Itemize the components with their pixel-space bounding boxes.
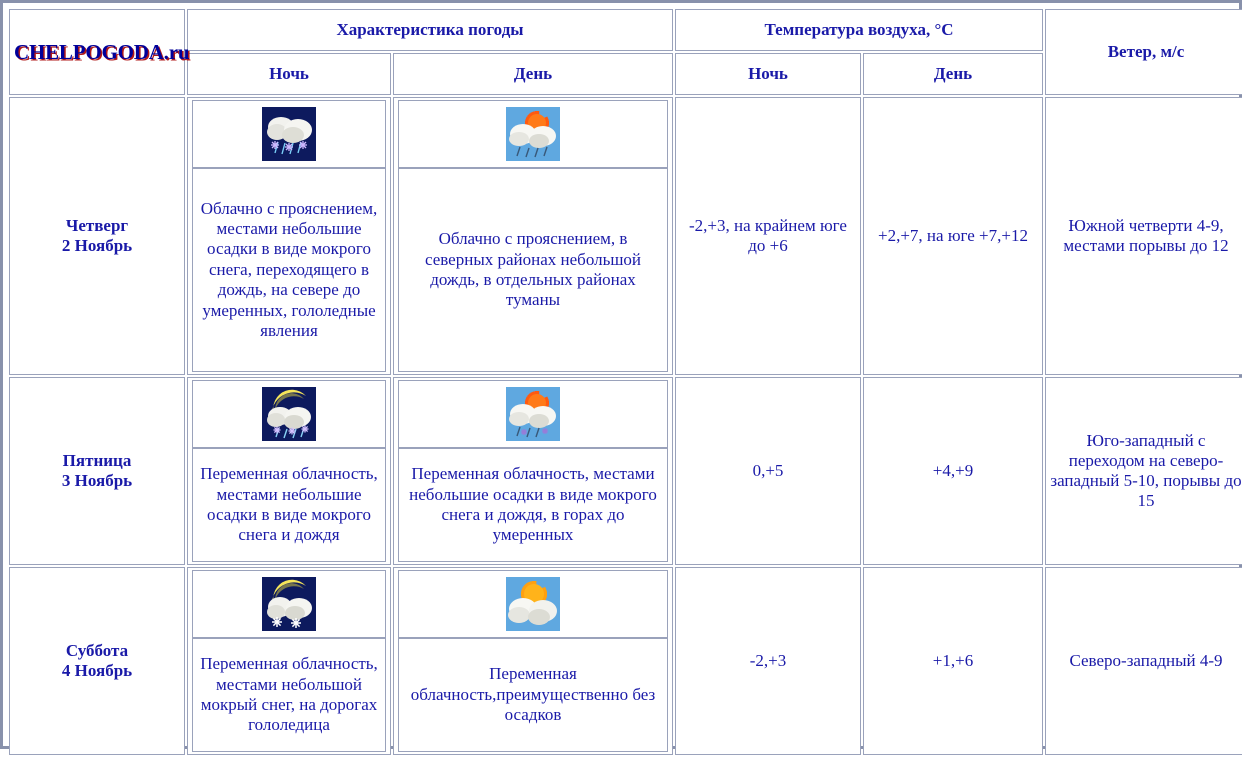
weather-forecast-frame: CHELPOGODA.ru Характеристика погоды Темп…	[0, 0, 1242, 749]
day-description: Облачно с прояснением, в северных района…	[398, 168, 668, 372]
temp-night-value: 0,+5	[675, 377, 861, 565]
wind-value: Северо-западный 4-9	[1045, 567, 1242, 755]
night-weather-cell: Переменная облачность, местами небольшие…	[187, 377, 391, 565]
date-label: 4 Ноябрь	[62, 661, 132, 680]
weekday-label: Суббота	[66, 641, 128, 660]
night-weather-cell: Переменная облачность, местами небольшой…	[187, 567, 391, 755]
date-label: 2 Ноябрь	[62, 236, 132, 255]
wind-value: Юго-западный с переходом на северо-запад…	[1045, 377, 1242, 565]
night-clouds-sleet-icon	[262, 107, 316, 161]
sun-clouds-sleet-icon	[506, 387, 560, 441]
forecast-row: Пятница3 Ноябрь	[9, 377, 1242, 565]
night-description: Переменная облачность, местами небольшой…	[192, 638, 386, 752]
night-weather-cell: Облачно с прояснением, местами небольшие…	[187, 97, 391, 375]
night-icon-cell	[192, 380, 386, 448]
moon-clouds-snow-icon	[262, 577, 316, 631]
header-row-top: CHELPOGODA.ru Характеристика погоды Темп…	[9, 9, 1242, 51]
site-logo-cell[interactable]: CHELPOGODA.ru	[9, 9, 185, 95]
date-label: 3 Ноябрь	[62, 471, 132, 490]
sun-clouds-rain-icon	[506, 107, 560, 161]
night-icon-cell	[192, 100, 386, 168]
header-temp-day: День	[863, 53, 1043, 95]
weekday-label: Пятница	[63, 451, 132, 470]
temp-night-value: -2,+3, на крайнем юге до +6	[675, 97, 861, 375]
temp-day-value: +1,+6	[863, 567, 1043, 755]
day-weather-cell: Переменная облачность,преимущественно бе…	[393, 567, 673, 755]
weekday-label: Четверг	[66, 216, 128, 235]
night-description: Облачно с прояснением, местами небольшие…	[192, 168, 386, 372]
day-description: Переменная облачность,преимущественно бе…	[398, 638, 668, 752]
temp-day-value: +4,+9	[863, 377, 1043, 565]
moon-clouds-sleet-icon	[262, 387, 316, 441]
header-temperature-group: Температура воздуха, °C	[675, 9, 1043, 51]
forecast-row: Четверг2 Ноябрь	[9, 97, 1242, 375]
header-temp-night: Ночь	[675, 53, 861, 95]
day-description: Переменная облачность, местами небольшие…	[398, 448, 668, 562]
day-date-cell: Четверг2 Ноябрь	[9, 97, 185, 375]
forecast-row: Суббота4 Ноябрь	[9, 567, 1242, 755]
day-date-cell: Суббота4 Ноябрь	[9, 567, 185, 755]
header-weather-group: Характеристика погоды	[187, 9, 673, 51]
night-icon-cell	[192, 570, 386, 638]
sun-clouds-icon	[506, 577, 560, 631]
day-icon-cell	[398, 570, 668, 638]
temp-night-value: -2,+3	[675, 567, 861, 755]
header-weather-night: Ночь	[187, 53, 391, 95]
header-weather-day: День	[393, 53, 673, 95]
day-icon-cell	[398, 380, 668, 448]
weather-forecast-table: CHELPOGODA.ru Характеристика погоды Темп…	[7, 7, 1242, 757]
day-weather-cell: Переменная облачность, местами небольшие…	[393, 377, 673, 565]
day-weather-cell: Облачно с прояснением, в северных района…	[393, 97, 673, 375]
header-wind-group: Ветер, м/с	[1045, 9, 1242, 95]
day-icon-cell	[398, 100, 668, 168]
day-date-cell: Пятница3 Ноябрь	[9, 377, 185, 565]
temp-day-value: +2,+7, на юге +7,+12	[863, 97, 1043, 375]
wind-value: Южной четверти 4-9, местами порывы до 12	[1045, 97, 1242, 375]
site-logo-text: CHELPOGODA.ru	[14, 40, 189, 64]
night-description: Переменная облачность, местами небольшие…	[192, 448, 386, 562]
